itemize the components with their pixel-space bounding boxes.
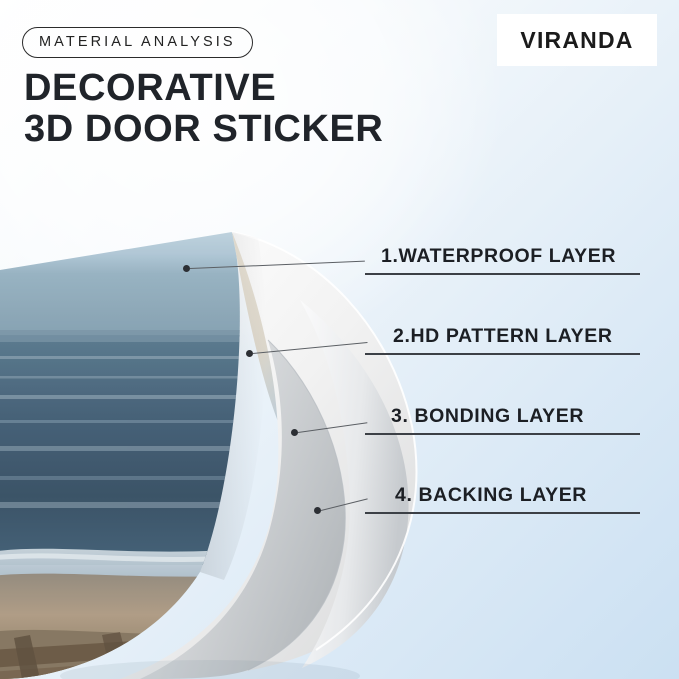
callout-label-3: 3. BONDING LAYER bbox=[391, 405, 584, 428]
callout-label-1: 1.WATERPROOF LAYER bbox=[381, 245, 616, 268]
eyebrow-badge: MATERIAL ANALYSIS bbox=[22, 27, 253, 58]
callout-label-4: 4. BACKING LAYER bbox=[395, 484, 587, 507]
page-title-line-2: 3D DOOR STICKER bbox=[24, 109, 383, 150]
callout-underline-4 bbox=[365, 512, 640, 514]
brand-name: VIRANDA bbox=[520, 27, 633, 54]
callout-dot-2 bbox=[246, 350, 253, 357]
brand-logo: VIRANDA bbox=[497, 14, 657, 66]
callout-underline-1 bbox=[365, 273, 640, 275]
poster-canvas: MATERIAL ANALYSIS DECORATIVE 3D DOOR STI… bbox=[0, 0, 679, 679]
page-title: DECORATIVE 3D DOOR STICKER bbox=[24, 68, 383, 150]
callout-underline-3 bbox=[365, 433, 640, 435]
page-title-line-1: DECORATIVE bbox=[24, 67, 276, 109]
callout-dot-4 bbox=[314, 507, 321, 514]
callout-underline-2 bbox=[365, 353, 640, 355]
callout-dot-1 bbox=[183, 265, 190, 272]
callout-label-2: 2.HD PATTERN LAYER bbox=[393, 325, 613, 348]
callout-dot-3 bbox=[291, 429, 298, 436]
